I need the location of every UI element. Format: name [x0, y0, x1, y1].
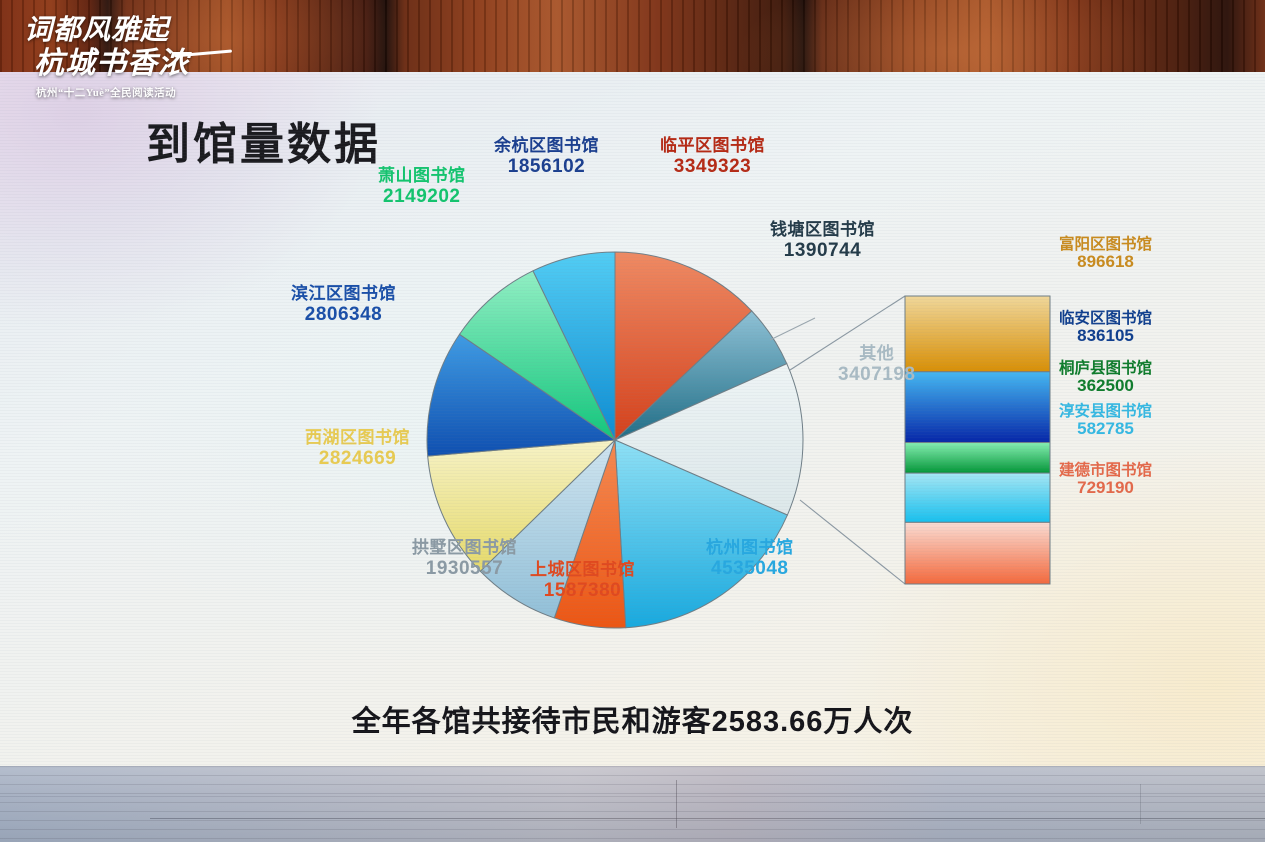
pie-label-shangcheng-value: 1587380 — [530, 580, 635, 602]
pie-label-gongshu-value: 1930557 — [412, 558, 517, 580]
pie-label-hangzhou-name: 杭州图书馆 — [706, 538, 794, 558]
pie-label-xihu-name: 西湖区图书馆 — [305, 428, 410, 448]
pie-label-other-name: 其他 — [838, 344, 915, 364]
pie-label-qiantang-value: 1390744 — [770, 240, 875, 262]
stage-floor — [0, 766, 1265, 842]
slide-photo: 词都风雅起 杭城书香浓 杭州“十二Yuè”全民阅读活动 到馆量数据 — [0, 0, 1265, 842]
bar-legend-fuyang-value: 896618 — [1059, 253, 1152, 272]
pie-label-other-value: 3407198 — [838, 364, 915, 386]
bar-legend-fuyang-name: 富阳区图书馆 — [1059, 236, 1152, 253]
bar-legend-jiande-value: 729190 — [1059, 479, 1152, 498]
bar-legend-tonglu-name: 桐庐县图书馆 — [1059, 360, 1152, 377]
pie-label-shangcheng: 上城区图书馆 1587380 — [530, 560, 635, 602]
bar-segment-jiande — [905, 522, 1050, 584]
pie-label-hangzhou: 杭州图书馆 4535048 — [706, 538, 794, 580]
bar-legend-jiande-name: 建德市图书馆 — [1059, 462, 1152, 479]
pie-label-yuhang-name: 余杭区图书馆 — [494, 136, 599, 156]
bar-legend-tonglu-value: 362500 — [1059, 377, 1152, 396]
pie-label-linping: 临平区图书馆 3349323 — [660, 136, 765, 178]
breakout-stacked-bar — [905, 296, 1050, 584]
bar-segment-tonglu — [905, 442, 1050, 473]
pie-label-other: 其他 3407198 — [838, 344, 915, 386]
bar-legend-chunan-value: 582785 — [1059, 420, 1152, 439]
bar-legend-linan: 临安区图书馆 836105 — [1059, 310, 1152, 346]
bar-legend-linan-name: 临安区图书馆 — [1059, 310, 1152, 327]
pie-label-binjiang: 滨江区图书馆 2806348 — [291, 284, 396, 326]
pie-label-yuhang-value: 1856102 — [494, 156, 599, 178]
pie-label-xiaoshan-name: 萧山图书馆 — [378, 166, 466, 186]
bar-segment-chunan — [905, 473, 1050, 522]
bar-segment-fuyang — [905, 296, 1050, 372]
bar-legend-jiande: 建德市图书馆 729190 — [1059, 462, 1152, 498]
pie-label-hangzhou-value: 4535048 — [706, 558, 794, 580]
chart-caption: 全年各馆共接待市民和游客2583.66万人次 — [0, 698, 1265, 740]
bar-legend-linan-value: 836105 — [1059, 327, 1152, 346]
bar-segment-linan — [905, 372, 1050, 443]
pie-label-linping-value: 3349323 — [660, 156, 765, 178]
label-leader-lines — [770, 318, 815, 340]
pie-label-binjiang-name: 滨江区图书馆 — [291, 284, 396, 304]
pie-label-xihu: 西湖区图书馆 2824669 — [305, 428, 410, 470]
breakout-connector-lines — [790, 296, 905, 584]
event-logo: 词都风雅起 杭城书香浓 杭州“十二Yuè”全民阅读活动 — [14, 16, 244, 124]
pie-label-linping-name: 临平区图书馆 — [660, 136, 765, 156]
pie-label-qiantang-name: 钱塘区图书馆 — [770, 220, 875, 240]
pie-label-gongshu: 拱墅区图书馆 1930557 — [412, 538, 517, 580]
bar-legend-chunan-name: 淳安县图书馆 — [1059, 403, 1152, 420]
logo-subtitle: 杭州“十二Yuè”全民阅读活动 — [36, 85, 244, 100]
bar-legend-tonglu: 桐庐县图书馆 362500 — [1059, 360, 1152, 396]
pie-label-xihu-value: 2824669 — [305, 448, 410, 470]
pie-label-xiaoshan: 萧山图书馆 2149202 — [378, 166, 466, 208]
pie-label-binjiang-value: 2806348 — [291, 304, 396, 326]
bar-legend-fuyang: 富阳区图书馆 896618 — [1059, 236, 1152, 272]
pie-label-yuhang: 余杭区图书馆 1856102 — [494, 136, 599, 178]
bar-legend-chunan: 淳安县图书馆 582785 — [1059, 403, 1152, 439]
pie-label-xiaoshan-value: 2149202 — [378, 186, 466, 208]
pie-label-gongshu-name: 拱墅区图书馆 — [412, 538, 517, 558]
logo-line-1: 词都风雅起 — [24, 16, 244, 46]
pie-label-qiantang: 钱塘区图书馆 1390744 — [770, 220, 875, 262]
pie-label-shangcheng-name: 上城区图书馆 — [530, 560, 635, 580]
